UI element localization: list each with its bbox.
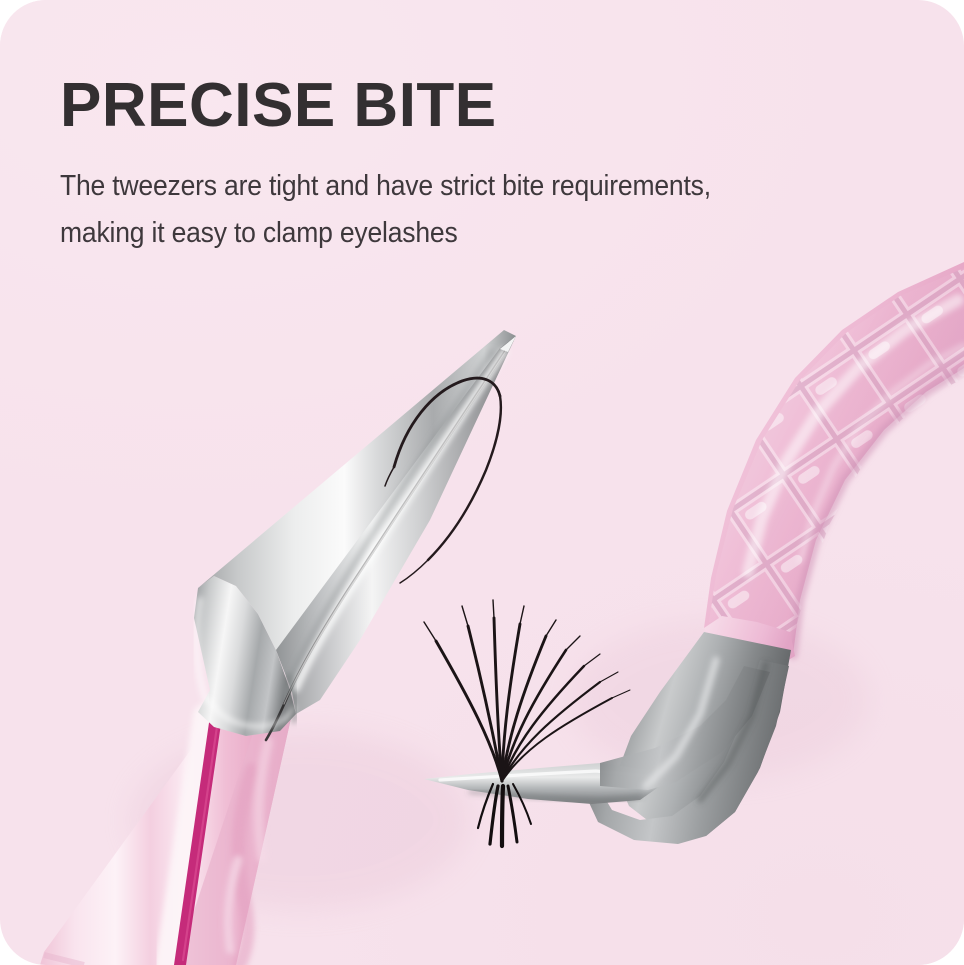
right-handle-quilt-texture [690,240,964,680]
feature-text-block: PRECISE BITE The tweezers are tight and … [60,74,760,257]
product-feature-card: PRECISE BITE The tweezers are tight and … [0,0,964,965]
feature-description-line-1: The tweezers are tight and have strict b… [60,163,711,210]
feature-description-line-2: making it easy to clamp eyelashes [60,210,711,257]
page-title: PRECISE BITE [60,74,760,137]
feature-description: The tweezers are tight and have strict b… [60,163,711,257]
